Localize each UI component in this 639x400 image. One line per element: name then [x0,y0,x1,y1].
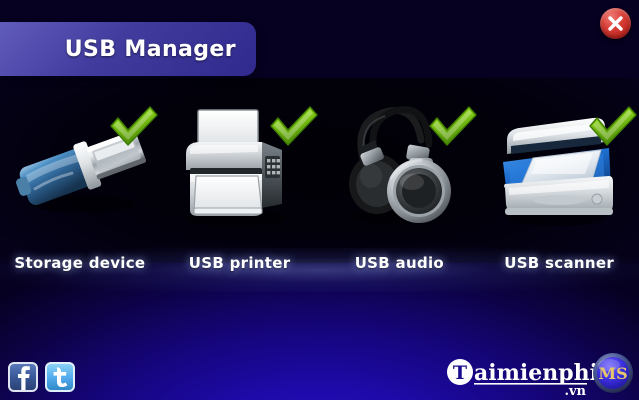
twitter-icon[interactable] [45,362,75,392]
page-title: USB Manager [65,37,236,62]
device-label: USB printer [165,254,315,272]
watermark: T aimienphi .vn MS [446,352,632,396]
green-check-icon [584,104,639,150]
ms-badge-text: MS [598,364,627,383]
close-x-icon [600,8,631,39]
device-label: USB scanner [484,254,634,272]
watermark-tld: .vn [564,384,586,398]
taimienphi-logo: T aimienphi .vn [446,354,596,398]
close-button[interactable] [600,8,631,39]
facebook-icon[interactable] [8,362,38,392]
title-bar: USB Manager [0,22,256,76]
device-list: Storage device [0,96,639,286]
device-label: USB audio [324,254,474,272]
usb-manager-window: USB Manager [0,0,639,400]
device-item-audio[interactable]: USB audio [324,96,474,286]
device-item-storage[interactable]: Storage device [5,96,155,286]
green-check-icon [265,104,321,150]
green-check-icon [424,104,480,150]
watermark-brand: aimienphi [474,360,596,386]
ms-logo-icon: MS [592,352,634,394]
watermark-initial: T [453,362,467,384]
device-item-printer[interactable]: USB printer [165,96,315,286]
device-label: Storage device [5,254,155,272]
green-check-icon [105,104,161,150]
social-links [8,362,75,392]
device-item-scanner[interactable]: USB scanner [484,96,634,286]
